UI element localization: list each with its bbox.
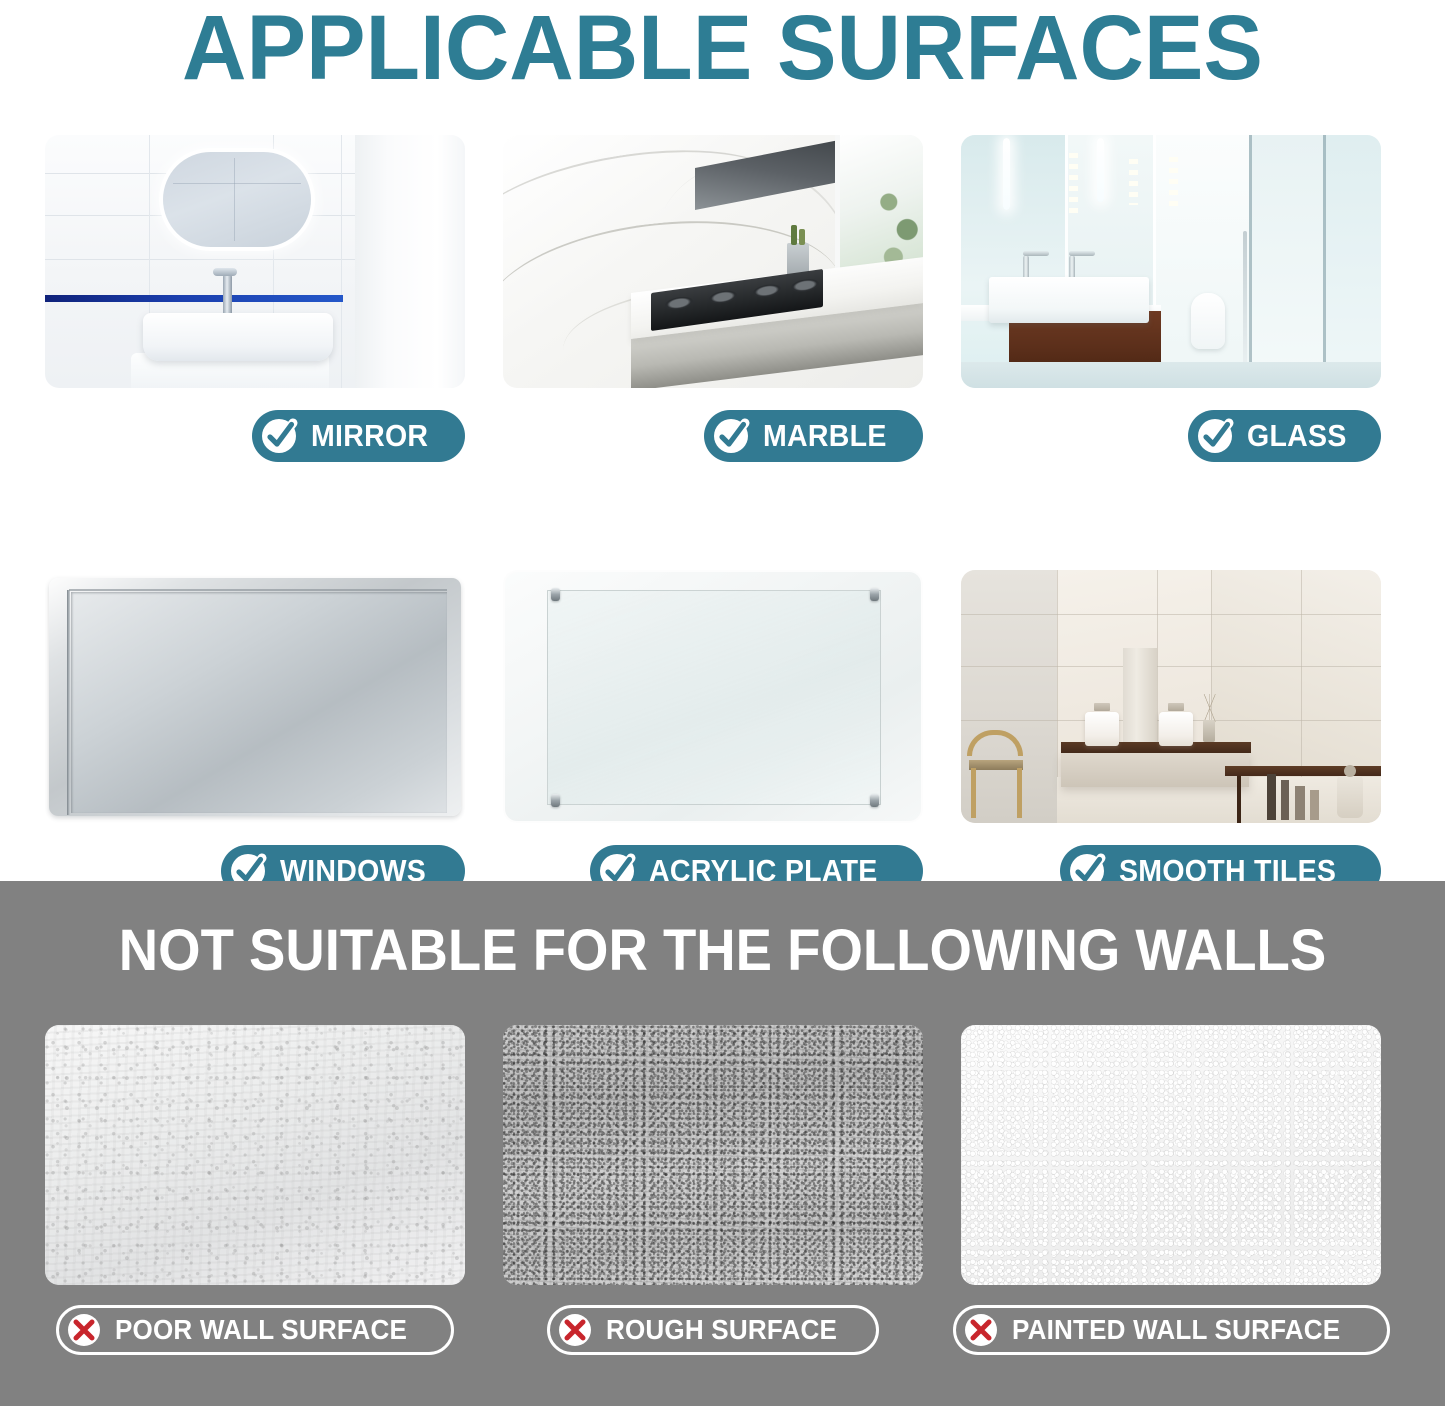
surface-badge-mirror[interactable]: MIRROR	[252, 410, 465, 462]
rough-concrete-texture	[503, 1025, 923, 1285]
surface-card-tiles: SMOOTH TILES	[961, 570, 1381, 897]
badge-row: MARBLE	[503, 410, 923, 462]
window-frame-photo	[45, 570, 465, 823]
surface-card-marble: MARBLE	[503, 135, 923, 462]
unsuitable-badge-label: PAINTED WALL SURFACE	[1012, 1314, 1340, 1346]
badge-row: PAINTED WALL SURFACE	[961, 1305, 1381, 1355]
badge-row: ROUGH SURFACE	[503, 1305, 923, 1355]
check-icon	[711, 416, 751, 456]
not-suitable-grid: POOR WALL SURFACE ROUGH SURFACE	[45, 1025, 1400, 1355]
bathroom-mirror-photo	[45, 135, 465, 388]
check-icon	[1195, 416, 1235, 456]
unsuitable-badge-rough[interactable]: ROUGH SURFACE	[547, 1305, 879, 1355]
x-mark-icon	[65, 1311, 103, 1349]
tiled-bathroom-photo	[961, 570, 1381, 823]
surface-badge-label: MARBLE	[763, 418, 887, 454]
surface-card-acrylic: ACRYLIC PLATE	[503, 570, 923, 897]
not-suitable-title: NOT SUITABLE FOR THE FOLLOWING WALLS	[43, 918, 1401, 984]
surface-card-glass: GLASS	[961, 135, 1381, 462]
unsuitable-card-poor-wall: POOR WALL SURFACE	[45, 1025, 465, 1355]
acrylic-panel-photo	[503, 570, 923, 823]
unsuitable-card-rough: ROUGH SURFACE	[503, 1025, 923, 1355]
x-mark-icon	[962, 1311, 1000, 1349]
applicable-surfaces-grid: MIRROR	[45, 135, 1400, 897]
badge-row: MIRROR	[45, 410, 465, 462]
surface-card-windows: WINDOWS	[45, 570, 465, 897]
surface-badge-label: MIRROR	[311, 418, 428, 454]
surface-badge-label: GLASS	[1247, 418, 1347, 454]
page-title: APPLICABLE SURFACES	[22, 0, 1424, 100]
unsuitable-card-painted: PAINTED WALL SURFACE	[961, 1025, 1381, 1355]
stucco-paint-texture	[961, 1025, 1381, 1285]
unsuitable-badge-label: ROUGH SURFACE	[606, 1314, 837, 1346]
x-mark-icon	[556, 1311, 594, 1349]
badge-row: POOR WALL SURFACE	[45, 1305, 465, 1355]
marble-kitchen-photo	[503, 135, 923, 388]
surface-badge-glass[interactable]: GLASS	[1188, 410, 1381, 462]
check-icon	[259, 416, 299, 456]
unsuitable-badge-painted[interactable]: PAINTED WALL SURFACE	[953, 1305, 1390, 1355]
unsuitable-badge-label: POOR WALL SURFACE	[115, 1314, 407, 1346]
badge-row: GLASS	[961, 410, 1381, 462]
surface-badge-marble[interactable]: MARBLE	[704, 410, 923, 462]
unsuitable-badge-poor-wall[interactable]: POOR WALL SURFACE	[56, 1305, 454, 1355]
surface-card-mirror: MIRROR	[45, 135, 465, 462]
smooth-concrete-texture	[45, 1025, 465, 1285]
infographic-page: APPLICABLE SURFACES	[0, 0, 1445, 1406]
glass-bathroom-photo	[961, 135, 1381, 388]
